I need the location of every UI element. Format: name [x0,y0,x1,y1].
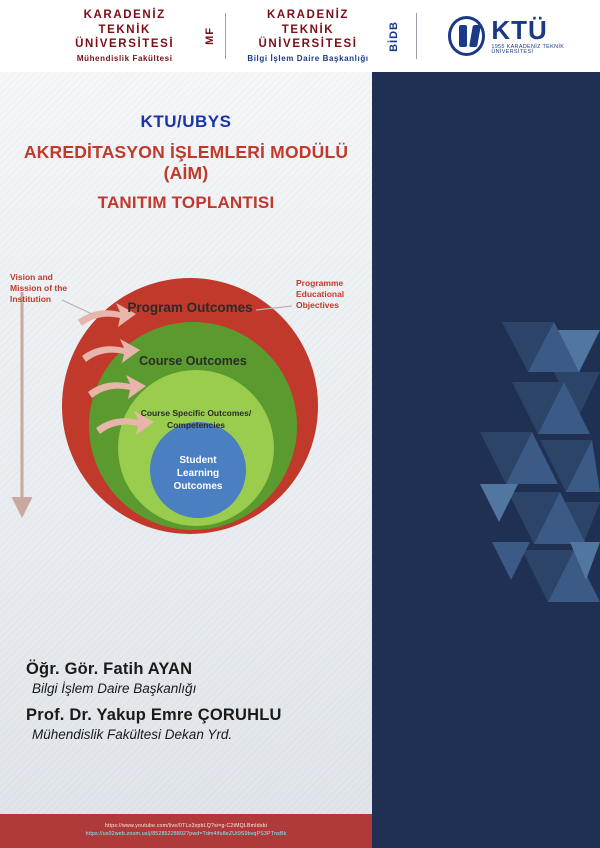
header-unit-bidb: KARADENİZ TEKNİK ÜNİVERSİTESİ Bilgi İşle… [235,0,399,72]
header-unit-bidb-text: KARADENİZ TEKNİK ÜNİVERSİTESİ Bilgi İşle… [235,8,380,63]
mf-vertical-label: MF [204,27,216,45]
speaker-1-name: Öğr. Gör. Fatih AYAN [26,660,372,679]
title-line-2: AKREDİTASYON İŞLEMLERİ MODÜLÜ (AİM) [0,142,372,184]
triangle-decoration [372,72,600,848]
annotation-peo-line2: Educational [296,289,344,299]
header-divider-1 [225,13,226,59]
annotation-vision-line2: Mission of the [10,283,67,293]
ring-label-student-line1: Student [179,455,217,466]
speaker-2-role: Mühendislik Fakültesi Dekan Yrd. [32,727,372,742]
poster-root: KARADENİZ TEKNİK ÜNİVERSİTESİ Mühendisli… [0,0,600,848]
ring-label-course-specific-line1: Course Specific Outcomes/ [141,408,252,418]
title-line-1: KTU/UBYS [0,112,372,132]
ring-label-student-line3: Outcomes [174,481,223,492]
annotation-vision-line3: Institution [10,294,51,304]
footer-link-youtube[interactable]: https://www.youtube.com/live/0TLo3xpbLQ?… [105,823,267,831]
footer-links-ribbon: https://www.youtube.com/live/0TLo3xpbLQ?… [0,814,372,848]
mf-line1: KARADENİZ [52,8,197,22]
annotation-peo-line1: Programme [296,278,344,288]
header-divider-2 [416,13,417,59]
mf-sub: Mühendislik Fakültesi [52,54,197,64]
poster-title: KTU/UBYS AKREDİTASYON İŞLEMLERİ MODÜLÜ (… [0,112,372,213]
title-line-3: TANITIM TOPLANTISI [0,193,372,213]
ring-label-program-outcomes: Program Outcomes [127,300,252,315]
bidb-line2: TEKNİK ÜNİVERSİTESİ [235,23,380,52]
ring-label-course-specific-line2: Competencies [167,420,225,430]
ktu-word-small: 1955 KARADENİZ TEKNİK ÜNİVERSİTESİ [491,45,600,56]
speaker-1-role: Bilgi İşlem Daire Başkanlığı [32,681,372,696]
outcomes-diagram-svg: Program Outcomes Course Outcomes Course … [0,258,372,548]
outcomes-diagram: Program Outcomes Course Outcomes Course … [0,258,372,548]
ktu-wordmark: KTÜ 1955 KARADENİZ TEKNİK ÜNİVERSİTESİ [491,17,600,56]
ring-label-course-outcomes: Course Outcomes [139,354,247,368]
speakers-gap [26,696,372,706]
bidb-vertical-label: BİDB [388,21,400,52]
annotation-peo-line3: Objectives [296,300,339,310]
footer-link-zoom[interactable]: https://us02web.zoom.us/j/85285228802?pw… [86,831,287,839]
ktu-logo: KTÜ 1955 KARADENİZ TEKNİK ÜNİVERSİTESİ [448,16,600,56]
speaker-2-name: Prof. Dr. Yakup Emre ÇORUHLU [26,706,372,725]
speakers-block: Öğr. Gör. Fatih AYAN Bilgi İşlem Daire B… [26,660,372,742]
ktu-word-big: KTÜ [491,17,600,43]
bidb-line1: KARADENİZ [235,8,380,22]
annotation-vision-line1: Vision and [10,272,53,282]
ring-label-student-line2: Learning [177,468,219,479]
bidb-sub: Bilgi İşlem Daire Başkanlığı [235,54,380,64]
header-unit-mf: KARADENİZ TEKNİK ÜNİVERSİTESİ Mühendisli… [52,0,216,72]
right-navy-panel: ✓ 08.10.2025 ÇARŞAMBA SAAT 15.00 YouTube… [372,72,600,848]
mf-line2: TEKNİK ÜNİVERSİTESİ [52,23,197,52]
header-unit-mf-text: KARADENİZ TEKNİK ÜNİVERSİTESİ Mühendisli… [52,8,197,63]
poster-header: KARADENİZ TEKNİK ÜNİVERSİTESİ Mühendisli… [0,0,600,72]
ktu-emblem-icon [448,16,486,56]
